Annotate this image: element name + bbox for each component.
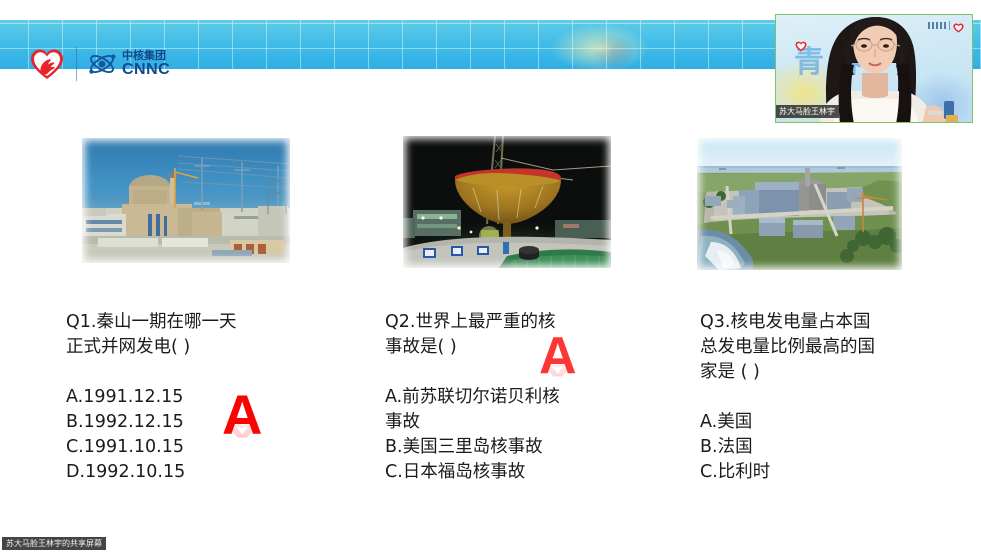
question-3-stem: Q3.核电发电量占本国 总发电量比例最高的国 家是 ( ) <box>700 310 930 385</box>
atom-icon <box>88 50 118 78</box>
question-3-options: A.美国 B.法国 C.比利时 <box>700 410 930 485</box>
answer-mark-2-reflection: A <box>539 357 577 380</box>
question-block-3: Q3.核电发电量占本国 总发电量比例最高的国 家是 ( ) A.美国 B.法国 … <box>700 310 930 485</box>
heart-hand-icon <box>30 48 64 80</box>
question-block-1: Q1.秦山一期在哪一天 正式并网发电( ) A.1991.12.15 B.199… <box>66 310 316 485</box>
corner-divider <box>949 21 950 30</box>
aerial-nuclear-plant-photo <box>697 138 902 270</box>
video-corner-logo <box>928 20 964 30</box>
answer-mark-question-1: A A <box>222 387 262 497</box>
cnnc-logo: 中核集团 CNNC <box>88 48 170 80</box>
question-2-options: A.前苏联切尔诺贝利核 事故 B.美国三里岛核事故 C.日本福岛核事故 <box>385 385 640 485</box>
participant-name-label: 苏大马脸王林宇 <box>776 105 839 118</box>
corner-wordmark-icon <box>928 22 946 29</box>
corner-heart-icon <box>953 20 964 30</box>
answer-mark-question-2: A A <box>539 330 577 432</box>
brand-name-en: CNNC <box>122 62 170 78</box>
answer-mark-1-reflection: A <box>222 416 262 441</box>
participant-video-tile[interactable]: 青春 <box>775 14 973 123</box>
qinshan-nuclear-plant-photo <box>82 138 290 263</box>
dome-lifting-night-photo <box>403 136 611 268</box>
question-2-stem: Q2.世界上最严重的核 事故是( ) <box>385 310 640 360</box>
screen-share-label: 苏大马脸王林宇的共享屏幕 <box>2 537 106 550</box>
question-1-options: A.1991.12.15 B.1992.12.15 C.1991.10.15 D… <box>66 385 316 485</box>
logo-divider <box>76 47 77 81</box>
question-block-2: Q2.世界上最严重的核 事故是( ) A.前苏联切尔诺贝利核 事故 B.美国三里… <box>385 310 640 485</box>
question-1-stem: Q1.秦山一期在哪一天 正式并网发电( ) <box>66 310 316 360</box>
brand-name-cn: 中核集团 <box>122 50 170 61</box>
